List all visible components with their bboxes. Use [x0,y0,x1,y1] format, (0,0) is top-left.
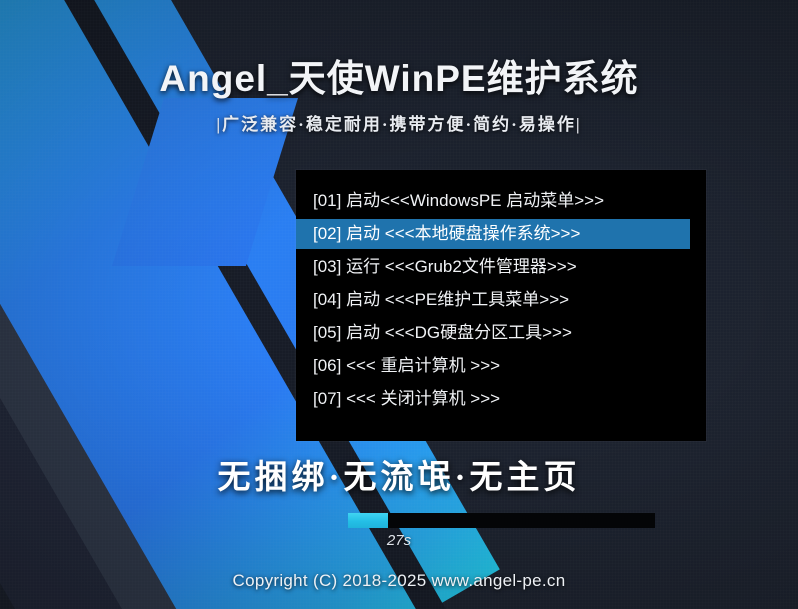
menu-item-05[interactable]: [05] 启动 <<<DG硬盘分区工具>>> [296,318,706,348]
boot-menu-list: [01] 启动<<<WindowsPE 启动菜单>>> [02] 启动 <<<本… [296,186,706,417]
countdown-timer-label: 27s [0,532,798,549]
countdown-progress-track [348,513,655,528]
menu-item-02[interactable]: [02] 启动 <<<本地硬盘操作系统>>> [296,219,690,249]
menu-item-03[interactable]: [03] 运行 <<<Grub2文件管理器>>> [296,252,706,282]
copyright-text: Copyright (C) 2018-2025 www.angel-pe.cn [0,571,798,591]
menu-item-06[interactable]: [06] <<< 重启计算机 >>> [296,351,706,381]
page-title: Angel_天使WinPE维护系统 [0,48,798,102]
countdown-progress-fill [348,513,388,528]
content-layer: Angel_天使WinPE维护系统 |广泛兼容·稳定耐用·携带方便·简约·易操作… [0,0,798,609]
menu-item-01[interactable]: [01] 启动<<<WindowsPE 启动菜单>>> [296,186,706,216]
menu-item-04[interactable]: [04] 启动 <<<PE维护工具菜单>>> [296,285,706,315]
winpe-boot-screen: Angel_天使WinPE维护系统 |广泛兼容·稳定耐用·携带方便·简约·易操作… [0,0,798,609]
marketing-slogan: 无捆绑·无流氓·无主页 [0,450,798,498]
boot-menu-panel: [01] 启动<<<WindowsPE 启动菜单>>> [02] 启动 <<<本… [296,170,706,441]
page-subtitle: |广泛兼容·稳定耐用·携带方便·简约·易操作| [0,110,798,135]
menu-item-07[interactable]: [07] <<< 关闭计算机 >>> [296,384,706,414]
